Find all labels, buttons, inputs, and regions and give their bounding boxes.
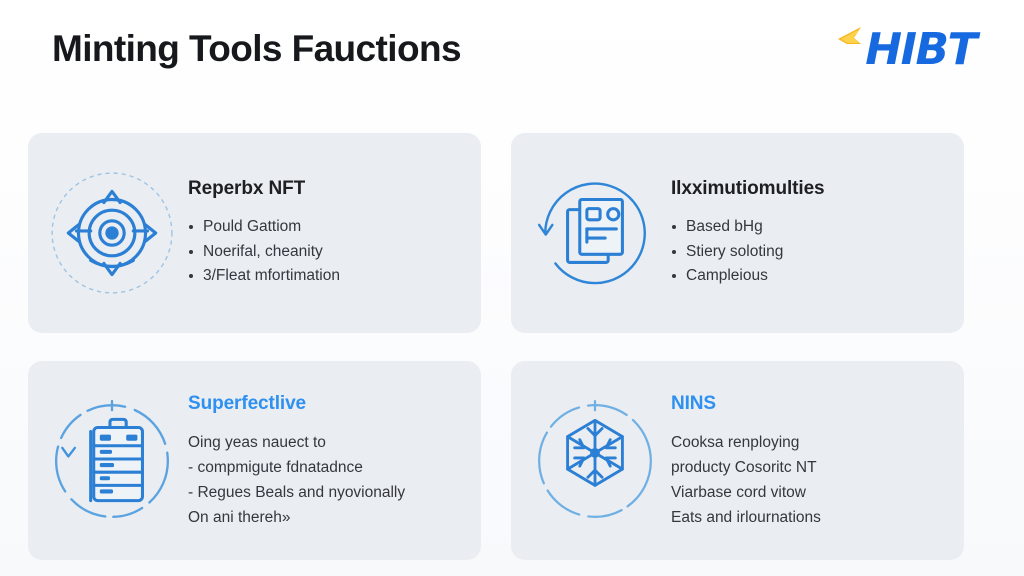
list-item: Noerifal, cheanity	[188, 240, 463, 265]
list-item: Eats and irlournations	[671, 505, 946, 530]
card-heading: Reperbx NFT	[188, 177, 463, 201]
feature-card-reperbx-nft[interactable]: Reperbx NFT Pould Gattiom Noerifal, chea…	[28, 133, 481, 333]
logo-wordmark: HIBT	[865, 26, 976, 74]
card-body: Superfectlive Oing yeas nauect to - comp…	[182, 392, 463, 530]
documents-refresh-icon	[525, 163, 665, 303]
slide-canvas: Minting Tools Fauctions HIBT	[0, 0, 1024, 576]
list-item: producty Cosoritc NT	[671, 455, 946, 480]
list-item: - compmigute fdnatadnce	[188, 455, 463, 480]
feature-card-superfectlive[interactable]: Superfectlive Oing yeas nauect to - comp…	[28, 361, 481, 560]
list-item: 3/Fleat mfortimation	[188, 264, 463, 289]
page-title: Minting Tools Fauctions	[52, 24, 461, 74]
list-item: - Regues Beals and nyovionally	[188, 480, 463, 505]
feature-card-grid: Reperbx NFT Pould Gattiom Noerifal, chea…	[28, 133, 964, 560]
clipboard-checklist-icon	[42, 391, 182, 531]
list-item: Viarbase cord vitow	[671, 480, 946, 505]
card-body: Ilxximutiomulties Based bHg Stiery solot…	[665, 177, 946, 289]
list-item: Based bHg	[671, 215, 946, 240]
brand-logo: HIBT	[835, 22, 976, 78]
list-item: Stiery soloting	[671, 240, 946, 265]
card-text-list: Cooksa renploying producty Cosoritc NT V…	[671, 430, 946, 530]
arrow-cursor-icon	[835, 24, 869, 58]
snowflake-node-icon	[525, 391, 665, 531]
card-bullet-list: Based bHg Stiery soloting Campleious	[671, 215, 946, 289]
target-gear-icon	[42, 163, 182, 303]
list-item: Cooksa renploying	[671, 430, 946, 455]
list-item: Pould Gattiom	[188, 215, 463, 240]
card-body: NINS Cooksa renploying producty Cosoritc…	[665, 392, 946, 530]
feature-card-ilxximutiomulties[interactable]: Ilxximutiomulties Based bHg Stiery solot…	[511, 133, 964, 333]
card-heading: Ilxximutiomulties	[671, 177, 946, 201]
card-bullet-list: Pould Gattiom Noerifal, cheanity 3/Fleat…	[188, 215, 463, 289]
feature-card-nins[interactable]: NINS Cooksa renploying producty Cosoritc…	[511, 361, 964, 560]
card-text-list: Oing yeas nauect to - compmigute fdnatad…	[188, 430, 463, 530]
list-item: Campleious	[671, 264, 946, 289]
card-body: Reperbx NFT Pould Gattiom Noerifal, chea…	[182, 177, 463, 289]
header: Minting Tools Fauctions HIBT	[0, 0, 1024, 110]
card-heading: NINS	[671, 392, 946, 416]
card-heading: Superfectlive	[188, 392, 463, 416]
list-item: Oing yeas nauect to	[188, 430, 463, 455]
list-item: On ani thereh»	[188, 505, 463, 530]
